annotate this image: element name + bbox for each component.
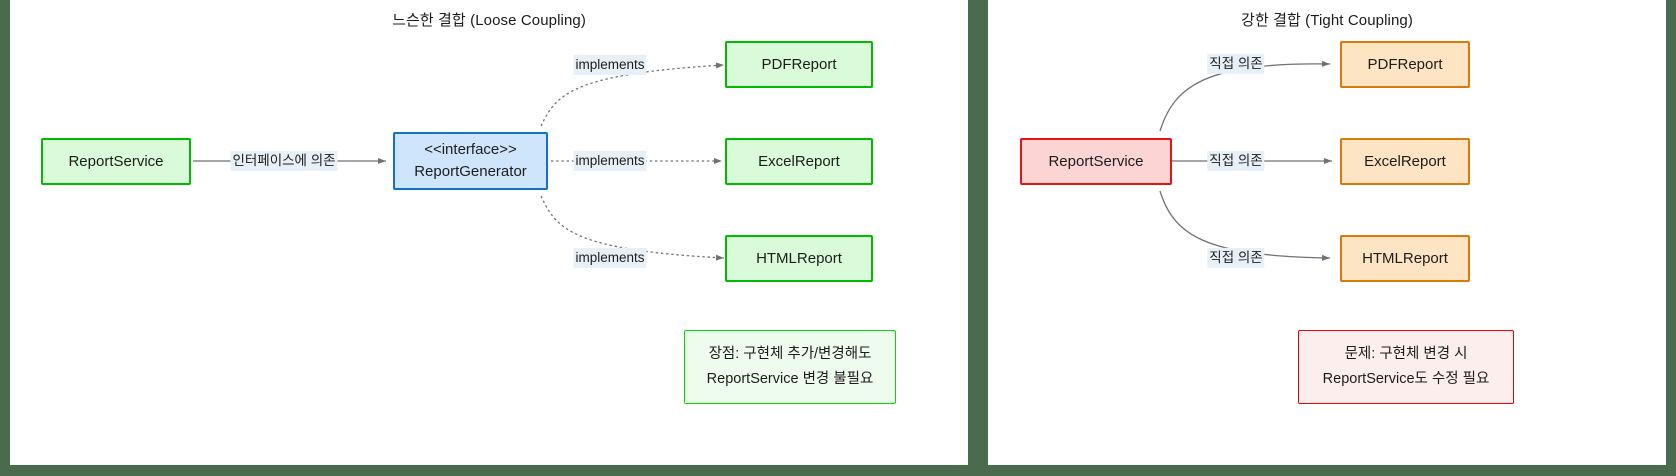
node-report-service-tight-label: ReportService xyxy=(1048,151,1143,173)
note-loose-coupling-benefit: 장점: 구현체 추가/변경해도 ReportService 변경 불필요 xyxy=(684,330,896,404)
node-html-report-tight[interactable]: HTMLReport xyxy=(1340,235,1470,282)
node-pdf-report-tight-label: PDFReport xyxy=(1367,54,1442,76)
note-tight-line-2: ReportService도 수정 필요 xyxy=(1323,367,1490,392)
node-pdf-report[interactable]: PDFReport xyxy=(725,41,873,88)
node-pdf-report-label: PDFReport xyxy=(761,54,836,76)
edge-label-depends-on-interface: 인터페이스에 의존 xyxy=(230,151,337,171)
edge-label-direct-dependency-html: 직접 의존 xyxy=(1207,248,1264,268)
node-excel-report-tight[interactable]: ExcelReport xyxy=(1340,138,1470,185)
edge-label-direct-dependency-excel: 직접 의존 xyxy=(1207,151,1264,171)
edge-label-direct-dependency-pdf: 직접 의존 xyxy=(1207,54,1264,74)
node-report-generator-interface[interactable]: <<interface>> ReportGenerator xyxy=(393,132,548,190)
note-loose-line-1: 장점: 구현체 추가/변경해도 xyxy=(709,342,872,367)
node-report-service-label: ReportService xyxy=(68,151,163,173)
node-report-service-tight[interactable]: ReportService xyxy=(1020,138,1172,185)
node-excel-report[interactable]: ExcelReport xyxy=(725,138,873,185)
node-html-report-label: HTMLReport xyxy=(756,248,842,270)
note-tight-line-1: 문제: 구현체 변경 시 xyxy=(1345,342,1468,367)
panel-tight-coupling: 강한 결합 (Tight Coupling) ReportService PDF… xyxy=(988,0,1666,465)
node-html-report-tight-label: HTMLReport xyxy=(1362,248,1448,270)
panel-tight-coupling-title: 강한 결합 (Tight Coupling) xyxy=(988,9,1666,30)
node-excel-report-label: ExcelReport xyxy=(758,151,840,173)
note-loose-line-2: ReportService 변경 불필요 xyxy=(707,367,874,392)
edge-label-implements-pdf: implements xyxy=(573,55,646,75)
node-html-report[interactable]: HTMLReport xyxy=(725,235,873,282)
panel-loose-coupling-title: 느슨한 결합 (Loose Coupling) xyxy=(10,9,968,30)
diagram-canvas: 느슨한 결합 (Loose Coupling) ReportService <<… xyxy=(0,0,1676,476)
node-report-service[interactable]: ReportService xyxy=(41,138,191,185)
panel-loose-coupling: 느슨한 결합 (Loose Coupling) ReportService <<… xyxy=(10,0,968,465)
edge-label-implements-html: implements xyxy=(573,248,646,268)
edge-label-implements-excel: implements xyxy=(573,151,646,171)
node-pdf-report-tight[interactable]: PDFReport xyxy=(1340,41,1470,88)
node-excel-report-tight-label: ExcelReport xyxy=(1364,151,1446,173)
node-interface-stereotype: <<interface>> xyxy=(424,139,517,161)
node-interface-name: ReportGenerator xyxy=(414,161,527,183)
note-tight-coupling-problem: 문제: 구현체 변경 시 ReportService도 수정 필요 xyxy=(1298,330,1514,404)
